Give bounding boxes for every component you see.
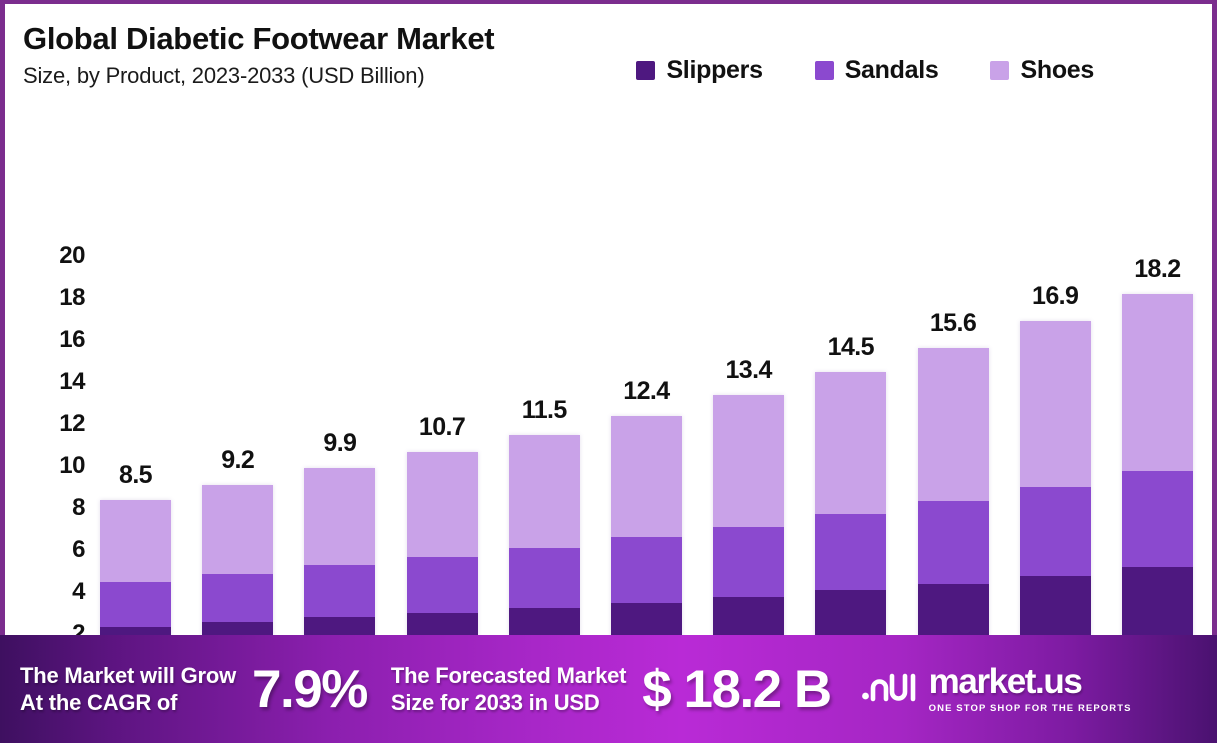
bar-column[interactable]: 10.7 [404,246,481,676]
bar-segment-sandals[interactable] [611,537,682,602]
bar-segment-shoes[interactable] [509,435,580,548]
bar-segment-shoes[interactable] [1020,321,1091,487]
legend-swatch-square-icon [990,61,1009,80]
chart-legend: Slippers Sandals Shoes [636,56,1094,85]
bar-segment-sandals[interactable] [1020,487,1091,576]
y-axis-tick: 18 [59,284,85,312]
y-axis-tick: 14 [59,368,85,396]
bar-value-label: 9.9 [323,429,356,458]
legend-label: Shoes [1020,56,1094,85]
y-axis-tick: 8 [72,494,85,522]
market-us-logo-mark-icon [861,670,919,709]
chart-header: Global Diabetic Footwear Market Size, by… [5,4,1212,116]
logo-wordmark: market.us [929,664,1132,699]
legend-label: Sandals [845,56,939,85]
bar-segment-shoes[interactable] [304,468,375,565]
forecast-caption-line2: Size for 2033 in USD [391,689,626,716]
y-axis-tick: 6 [72,536,85,564]
legend-swatch-square-icon [636,61,655,80]
bar-segment-sandals[interactable] [509,548,580,608]
bar-segment-sandals[interactable] [202,574,273,622]
cagr-caption-line1: The Market will Grow [20,662,236,689]
bar-segment-shoes[interactable] [407,452,478,557]
bar-stack[interactable] [713,395,784,676]
forecast-caption-line1: The Forecasted Market [391,662,626,689]
forecast-caption: The Forecasted Market Size for 2033 in U… [391,662,626,717]
bar-value-label: 10.7 [419,413,465,442]
cagr-caption: The Market will Grow At the CAGR of [20,662,236,717]
bar-value-label: 13.4 [725,356,771,385]
bar-value-label: 15.6 [930,309,976,338]
bar-column[interactable]: 8.5 [97,246,174,676]
bar-value-label: 18.2 [1134,255,1180,284]
bar-column[interactable]: 16.9 [1017,246,1094,676]
legend-item-shoes[interactable]: Shoes [990,56,1094,85]
y-axis-tick: 20 [59,242,85,270]
bar-value-label: 9.2 [221,446,254,475]
chart-subtitle: Size, by Product, 2023-2033 (USD Billion… [23,63,494,89]
bar-segment-sandals[interactable] [1122,471,1193,567]
footer-banner: The Market will Grow At the CAGR of 7.9%… [0,635,1217,743]
bar-column[interactable]: 13.4 [710,246,787,676]
bar-segment-sandals[interactable] [815,514,886,590]
y-axis-tick: 4 [72,578,85,606]
bar-segment-sandals[interactable] [713,527,784,597]
bar-segment-sandals[interactable] [918,501,989,584]
y-axis-tick: 16 [59,326,85,354]
bar-segment-shoes[interactable] [100,500,171,582]
bar-column[interactable]: 9.2 [199,246,276,676]
bar-stack[interactable] [918,348,989,676]
bar-stack[interactable] [1122,294,1193,676]
bar-stack[interactable] [1020,321,1091,676]
bar-column[interactable]: 9.9 [301,246,378,676]
bar-value-label: 12.4 [623,377,669,406]
cagr-caption-line2: At the CAGR of [20,689,236,716]
y-axis-tick: 12 [59,410,85,438]
bar-segment-shoes[interactable] [611,416,682,538]
bars-container: 8.59.29.910.711.512.413.414.515.616.918.… [97,246,1196,676]
chart-card: Global Diabetic Footwear Market Size, by… [0,0,1217,743]
y-axis-tick: 10 [59,452,85,480]
market-us-logo[interactable]: market.us ONE STOP SHOP FOR THE REPORTS [861,664,1132,714]
plot-area: 02468101214161820 8.59.29.910.711.512.41… [5,116,1212,635]
forecast-value: $ 18.2 B [642,659,830,720]
bar-column[interactable]: 11.5 [506,246,583,676]
bar-stack[interactable] [815,372,886,676]
legend-item-slippers[interactable]: Slippers [636,56,762,85]
bar-value-label: 16.9 [1032,282,1078,311]
bar-column[interactable]: 12.4 [608,246,685,676]
legend-item-sandals[interactable]: Sandals [815,56,939,85]
title-block: Global Diabetic Footwear Market Size, by… [23,22,494,89]
logo-tagline: ONE STOP SHOP FOR THE REPORTS [929,703,1132,714]
bar-segment-shoes[interactable] [918,348,989,500]
bar-column[interactable]: 14.5 [812,246,889,676]
bar-segment-sandals[interactable] [407,557,478,613]
cagr-value: 7.9% [252,659,367,720]
legend-label: Slippers [666,56,762,85]
y-axis: 02468101214161820 [39,256,85,676]
bar-value-label: 14.5 [828,333,874,362]
bar-segment-shoes[interactable] [202,485,273,574]
bar-segment-sandals[interactable] [100,582,171,627]
bar-value-label: 8.5 [119,461,152,490]
logo-text-block: market.us ONE STOP SHOP FOR THE REPORTS [929,664,1132,714]
bar-segment-shoes[interactable] [1122,294,1193,471]
bar-column[interactable]: 15.6 [915,246,992,676]
bar-segment-shoes[interactable] [713,395,784,527]
bar-segment-shoes[interactable] [815,372,886,515]
bar-value-label: 11.5 [522,396,567,425]
page-title: Global Diabetic Footwear Market [23,22,494,57]
bar-column[interactable]: 18.2 [1119,246,1196,676]
bar-segment-sandals[interactable] [304,565,375,618]
legend-swatch-square-icon [815,61,834,80]
